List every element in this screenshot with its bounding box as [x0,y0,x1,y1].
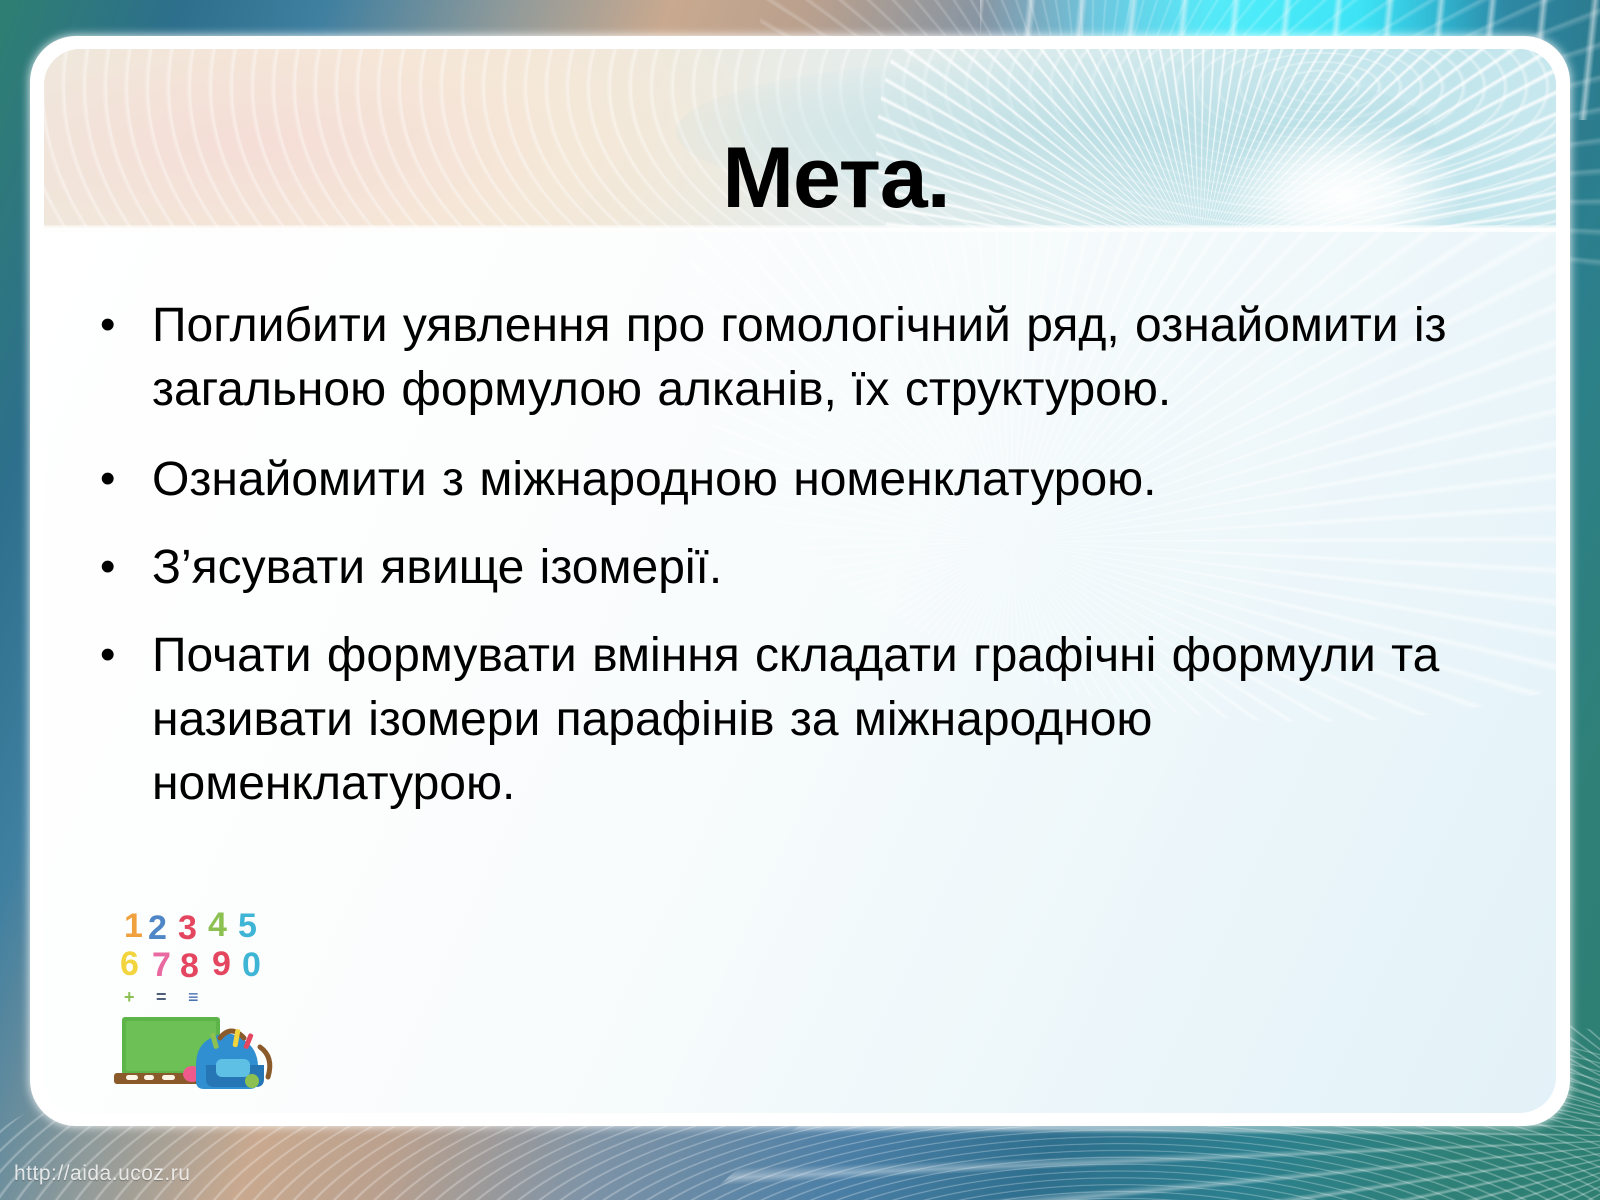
bullet-point-icon: • [94,536,152,598]
bullet-text: Почати формувати вміння складати графічн… [152,624,1514,816]
bullet-list: • Поглибити уявлення про гомологічний ря… [94,294,1514,842]
svg-text:+: + [124,987,135,1007]
bullet-point-icon: • [94,294,152,356]
bullet-text: З’ясувати явище ізомерії. [152,536,1514,600]
svg-text:9: 9 [212,945,231,983]
svg-text:5: 5 [238,907,257,945]
slide-body: • Поглибити уявлення про гомологічний ря… [44,232,1556,1113]
svg-text:7: 7 [152,946,171,984]
svg-text:0: 0 [242,946,261,984]
list-item: • Поглибити уявлення про гомологічний ря… [94,294,1514,422]
svg-text:8: 8 [180,947,199,985]
list-item: • Почати формувати вміння складати графі… [94,624,1514,816]
svg-text:=: = [156,987,167,1007]
slide-card: Мета. • Поглибити уявлення про гомологіч… [44,49,1556,1113]
bullet-text: Поглибити уявлення про гомологічний ряд,… [152,294,1514,422]
page-title: Мета. [44,133,1556,223]
list-item: • Ознайомити з міжнародною номенклатурою… [94,448,1514,512]
list-item: • З’ясувати явище ізомерії. [94,536,1514,600]
slide-root: Мета. • Поглибити уявлення про гомологіч… [0,0,1600,1200]
svg-text:≡: ≡ [188,987,199,1007]
svg-text:6: 6 [120,945,139,983]
svg-text:4: 4 [208,906,227,944]
bullet-point-icon: • [94,448,152,510]
source-watermark: http://aida.ucoz.ru [14,1162,190,1186]
header-divider [44,225,1556,232]
svg-text:3: 3 [178,909,197,947]
bullet-text: Ознайомити з міжнародною номенклатурою. [152,448,1514,512]
svg-text:2: 2 [148,909,167,947]
svg-text:1: 1 [124,907,143,945]
school-clipart-image: 1 2 3 4 5 6 7 8 9 0 + [102,893,352,1103]
bullet-point-icon: • [94,624,152,686]
